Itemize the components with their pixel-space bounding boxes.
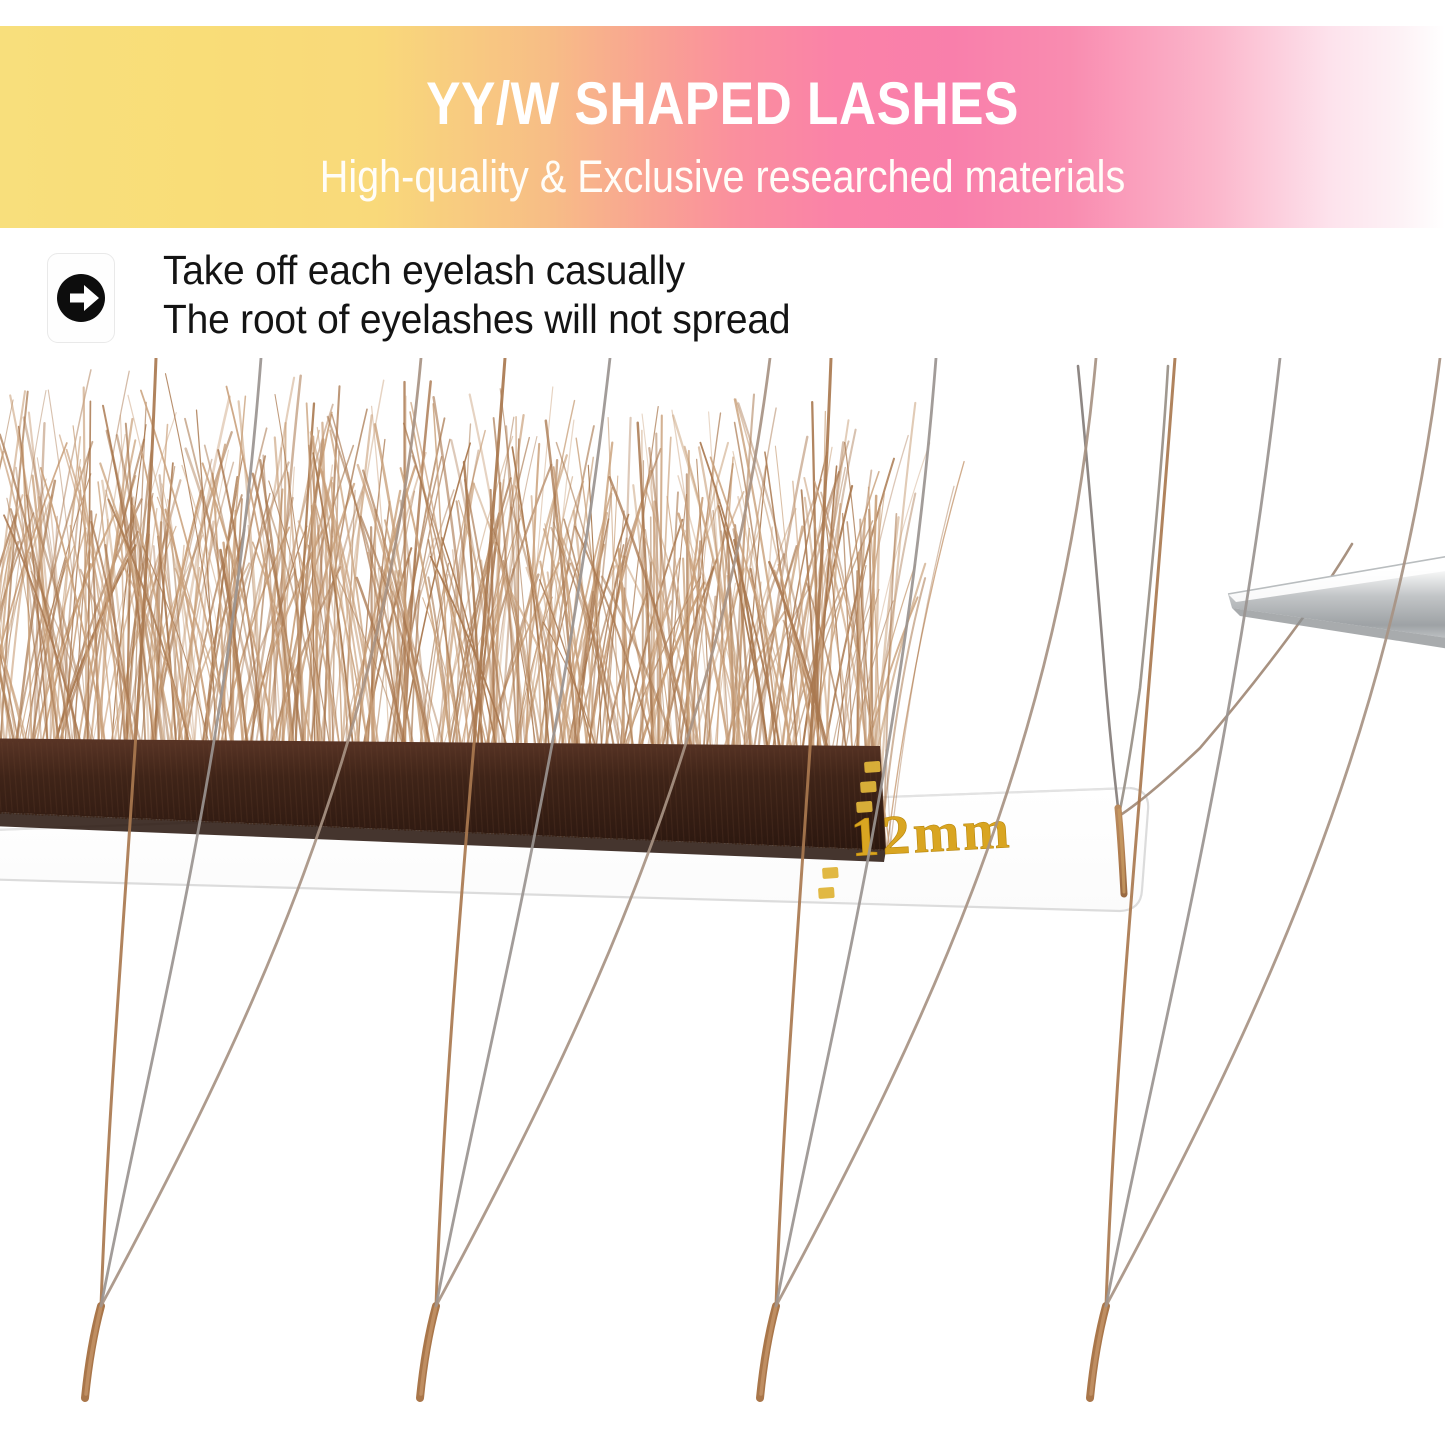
instruction-callout: Take off each eyelash casually The root … [0,246,1445,354]
product-photo: 12mm [0,358,1445,1445]
instruction-line-1: Take off each eyelash casually [163,246,1208,295]
bottom-lash-fans [0,358,1445,1445]
instruction-line-2: The root of eyelashes will not spread [163,295,1208,344]
header-banner: YY/W SHAPED LASHES High-quality & Exclus… [0,26,1445,228]
arrow-badge [47,253,115,343]
page-subtitle: High-quality & Exclusive researched mate… [87,154,1359,199]
instruction-text-block: Take off each eyelash casually The root … [163,246,1263,344]
arrow-right-circle-icon [55,272,107,324]
page-title: YY/W SHAPED LASHES [101,74,1344,134]
